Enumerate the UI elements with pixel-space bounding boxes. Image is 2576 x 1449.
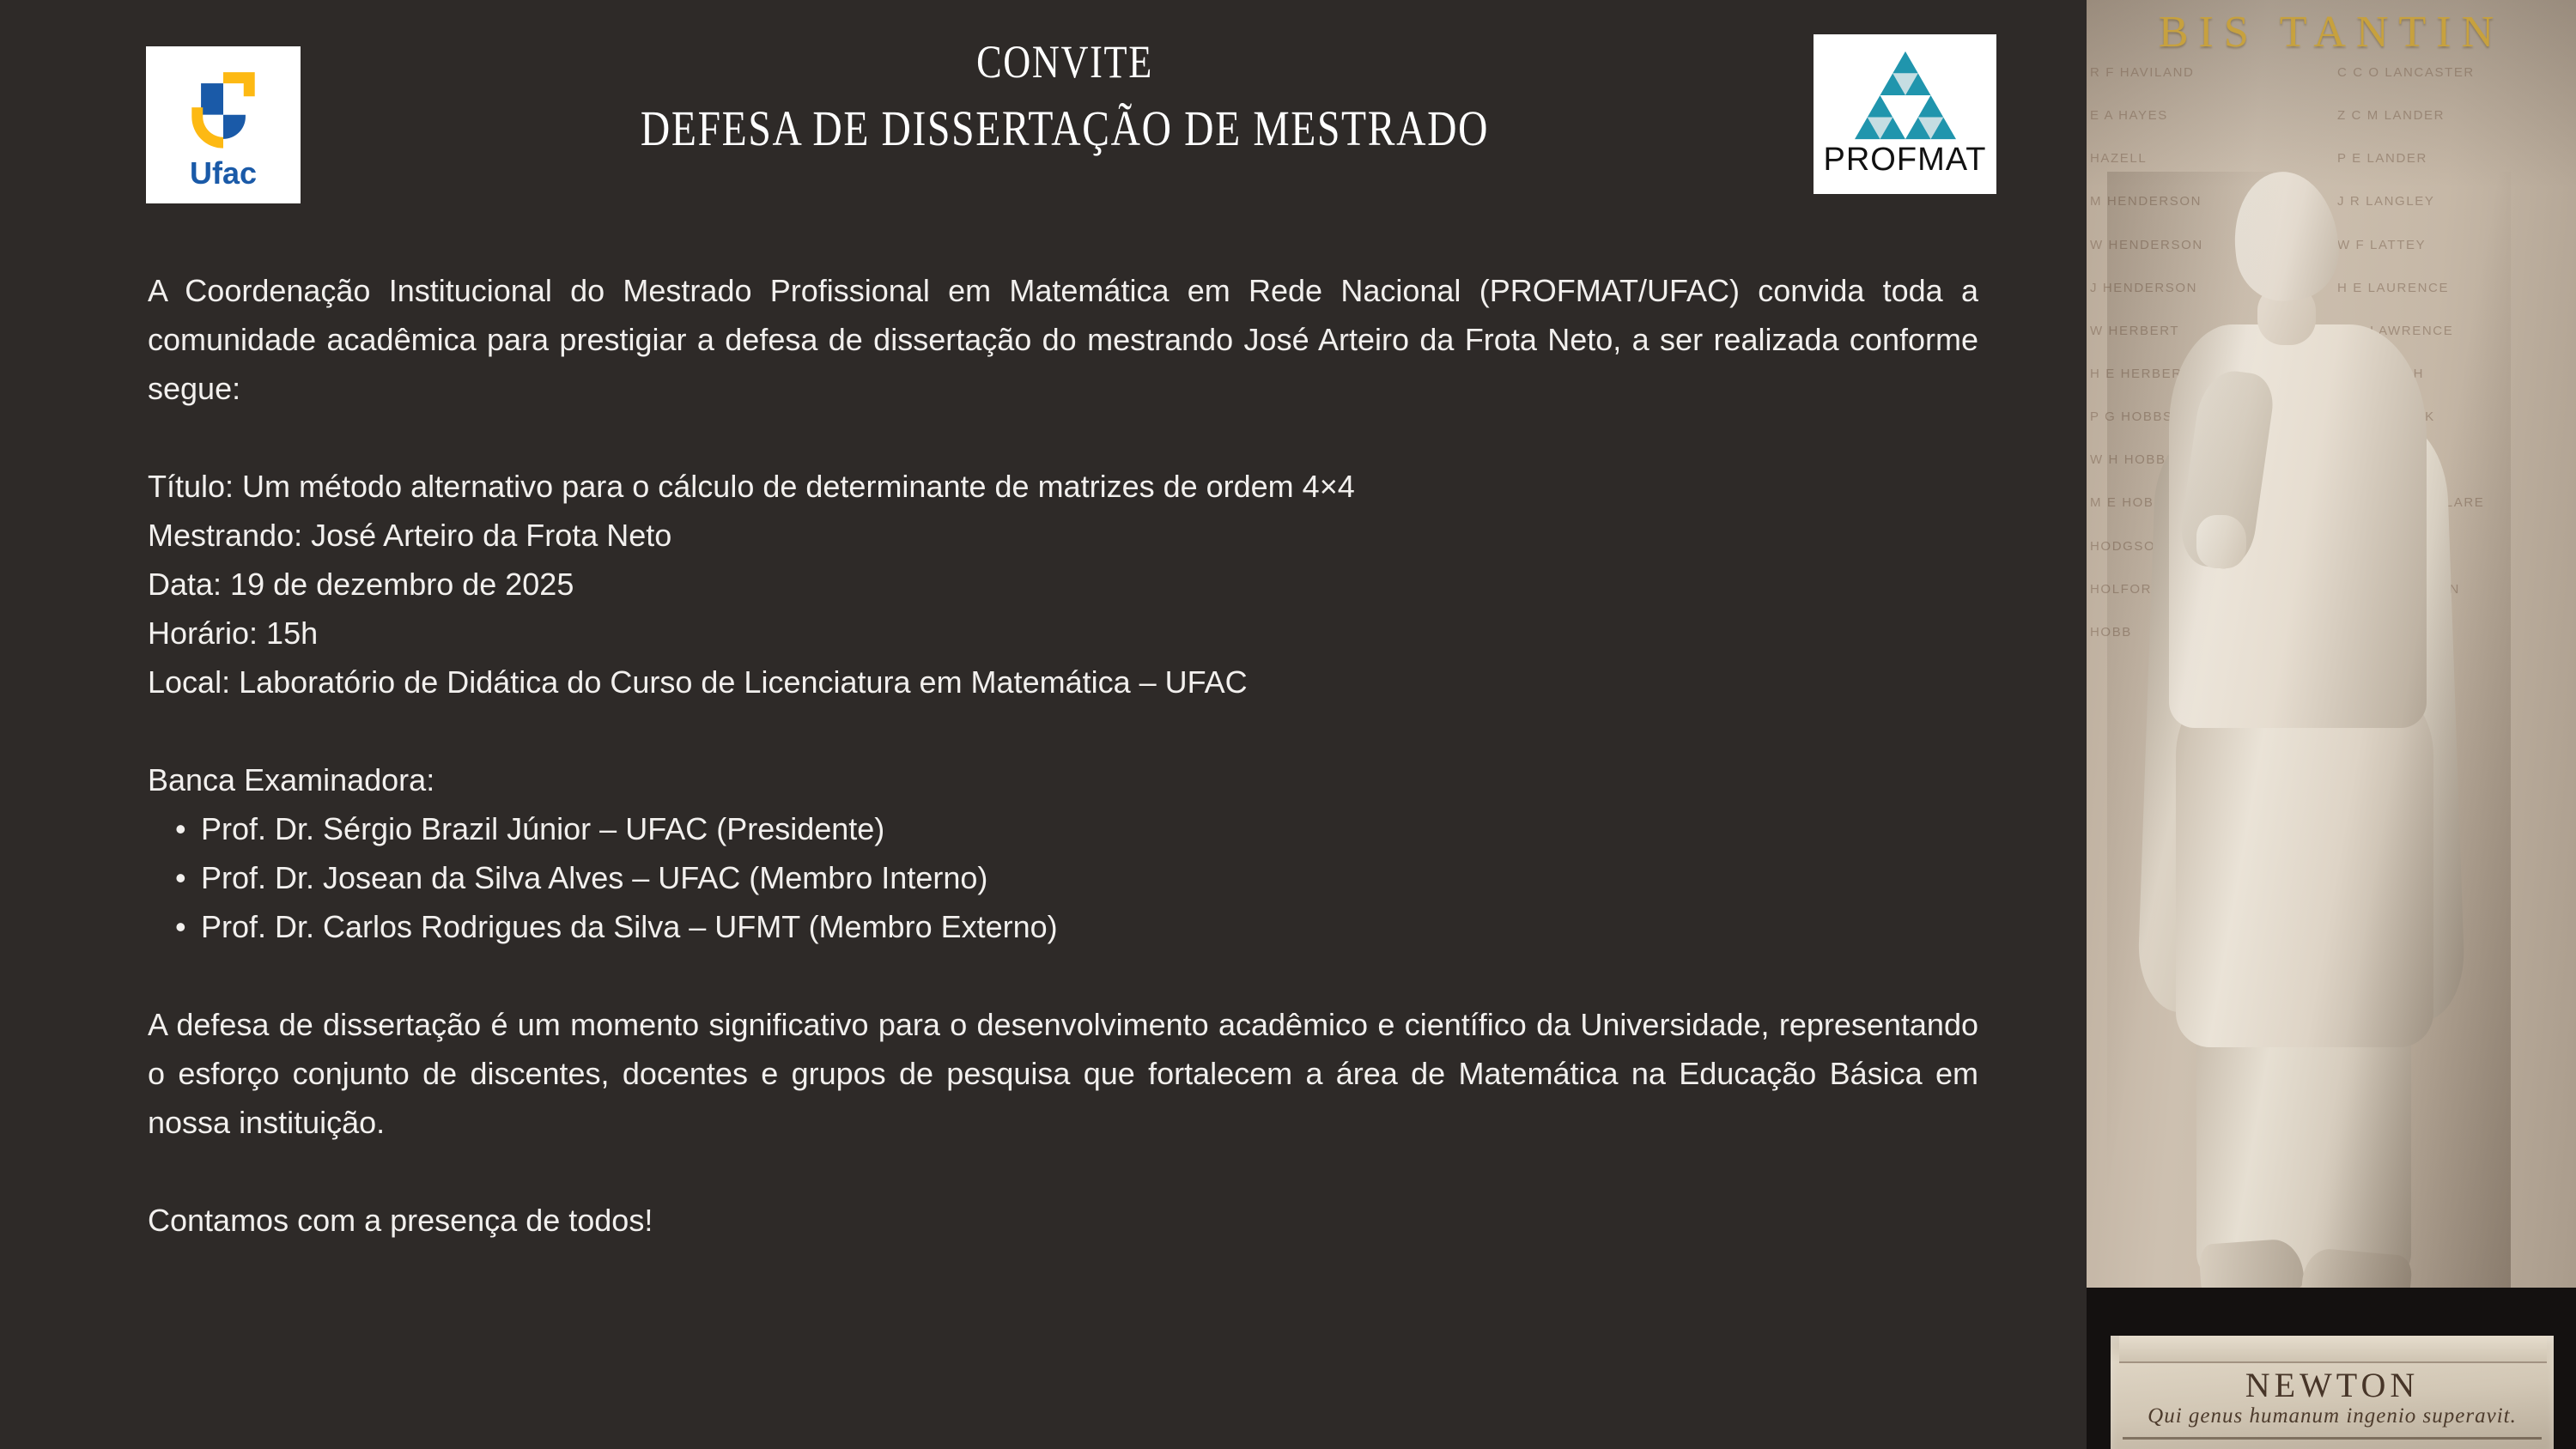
- intro-paragraph: A Coordenação Institucional do Mestrado …: [148, 266, 1978, 413]
- sierpinski-triangle-icon: [1855, 51, 1956, 140]
- committee-heading: Banca Examinadora:: [148, 755, 1978, 804]
- statue-hand: [2196, 515, 2246, 568]
- plinth-rule: [2123, 1437, 2542, 1440]
- ufac-shield-icon: [177, 59, 270, 152]
- detail-mestrando: Mestrando: José Arteiro da Frota Neto: [148, 511, 1978, 560]
- committee-member-label: Prof. Dr. Carlos Rodrigues da Silva – UF…: [201, 909, 1058, 944]
- detail-data: Data: 19 de dezembro de 2025: [148, 560, 1978, 609]
- bullet-icon: •: [175, 902, 186, 951]
- spacer: [148, 1147, 1978, 1196]
- wall-name: R F HAVILAND: [2090, 65, 2329, 106]
- profmat-logo: PROFMAT: [1814, 34, 1996, 194]
- plinth-cornice: [2119, 1336, 2547, 1363]
- list-item: • Prof. Dr. Sérgio Brazil Júnior – UFAC …: [201, 804, 1978, 853]
- statue-lower-robe: [2176, 687, 2433, 1047]
- closing-paragraph: A defesa de dissertação é um momento sig…: [148, 1000, 1978, 1147]
- ufac-wordmark: Ufac: [190, 155, 257, 191]
- wall-name: E A HAYES: [2090, 108, 2329, 149]
- title-block: CONVITE DEFESA DE DISSERTAÇÃO DE MESTRAD…: [343, 38, 1786, 157]
- page-subtitle: DEFESA DE DISSERTAÇÃO DE MESTRADO: [473, 100, 1656, 158]
- poster-header: Ufac CONVITE DEFESA DE DISSERTAÇÃO DE ME…: [0, 0, 2087, 215]
- spacer: [148, 951, 1978, 1000]
- page-title: CONVITE: [473, 38, 1656, 87]
- poster-body: A Coordenação Institucional do Mestrado …: [148, 266, 1978, 1245]
- detail-local: Local: Laboratório de Didática do Curso …: [148, 658, 1978, 706]
- statue-plinth: NEWTON Qui genus humanum ingenio superav…: [2111, 1336, 2554, 1449]
- spacer: [148, 413, 1978, 462]
- bullet-icon: •: [175, 853, 186, 902]
- wall-name: C C O LANCASTER: [2337, 65, 2576, 106]
- profmat-wordmark: PROFMAT: [1824, 142, 1987, 179]
- bullet-icon: •: [175, 804, 186, 853]
- spacer: [148, 706, 1978, 755]
- call-to-action: Contamos com a presença de todos!: [148, 1196, 1978, 1245]
- detail-horario: Horário: 15h: [148, 609, 1978, 658]
- ufac-logo: Ufac: [146, 46, 301, 203]
- wall-gold-inscription: BIS TANTIN: [2087, 7, 2576, 57]
- invitation-poster: Ufac CONVITE DEFESA DE DISSERTAÇÃO DE ME…: [0, 0, 2576, 1449]
- statue-head: [2227, 167, 2343, 306]
- list-item: • Prof. Dr. Josean da Silva Alves – UFAC…: [201, 853, 1978, 902]
- content-column: Ufac CONVITE DEFESA DE DISSERTAÇÃO DE ME…: [0, 0, 2087, 1449]
- detail-titulo: Título: Um método alternativo para o cál…: [148, 462, 1978, 511]
- committee-member-label: Prof. Dr. Josean da Silva Alves – UFAC (…: [201, 860, 987, 895]
- newton-statue-photo: BIS TANTIN R F HAVILANDC C O LANCASTERE …: [2087, 0, 2576, 1449]
- wall-name: Z C M LANDER: [2337, 108, 2576, 149]
- list-item: • Prof. Dr. Carlos Rodrigues da Silva – …: [201, 902, 1978, 951]
- newton-statue-figure: [2107, 172, 2511, 1339]
- plinth-name-label: NEWTON: [2111, 1365, 2554, 1405]
- committee-member-label: Prof. Dr. Sérgio Brazil Júnior – UFAC (P…: [201, 811, 884, 846]
- plinth-motto-label: Qui genus humanum ingenio superavit.: [2111, 1404, 2554, 1428]
- committee-list: • Prof. Dr. Sérgio Brazil Júnior – UFAC …: [148, 804, 1978, 951]
